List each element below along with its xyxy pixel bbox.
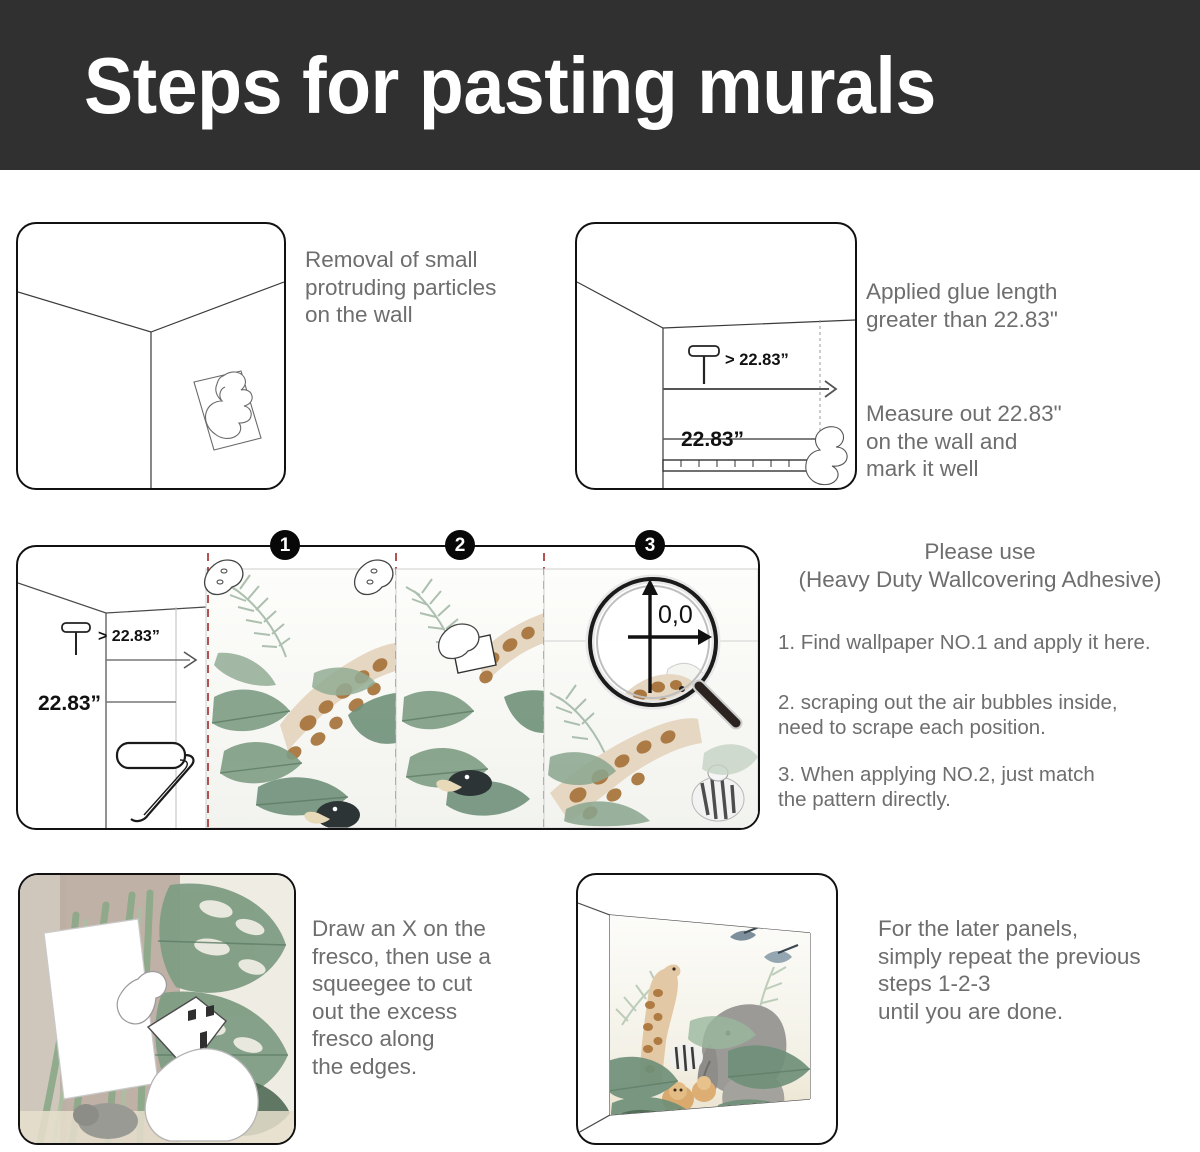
instruction-2: 2. scraping out the air bubbles inside, …	[778, 690, 1198, 740]
caption-glue-length: Applied glue length greater than 22.83"	[866, 278, 1166, 333]
step-badge-2: 2	[445, 530, 475, 560]
caption-measure-mark: Measure out 22.83" on the wall and mark …	[866, 400, 1166, 483]
caption-trim: Draw an X on the fresco, then use a sque…	[312, 915, 562, 1080]
panel-prep-wall	[16, 222, 286, 490]
step-badge-1: 1	[270, 530, 300, 560]
step-badge-3: 3	[635, 530, 665, 560]
page-title: Steps for pasting murals	[84, 38, 936, 134]
panel-trim-excess	[18, 873, 296, 1145]
header-bar: Steps for pasting murals	[0, 0, 1200, 170]
panel-repeat-steps	[576, 873, 838, 1145]
apply-wallpaper-illustration: > 22.83” 22.83”	[18, 547, 758, 828]
origin-label: 0,0	[658, 601, 693, 629]
panel-measure-wall: > 22.83” 22.83”	[575, 222, 857, 490]
panel-apply-wallpaper: > 22.83” 22.83”	[16, 545, 760, 830]
wall-corner-sanding-illustration	[18, 224, 284, 488]
trim-excess-illustration	[20, 875, 294, 1143]
measure-wall-illustration: > 22.83” 22.83”	[577, 224, 855, 488]
caption-adhesive-note: Please use (Heavy Duty Wallcovering Adhe…	[770, 538, 1190, 593]
caption-repeat: For the later panels, simply repeat the …	[878, 915, 1200, 1025]
finished-mural-room-illustration	[578, 875, 836, 1143]
instruction-1: 1. Find wallpaper NO.1 and apply it here…	[778, 630, 1198, 655]
glue-length-label: > 22.83”	[725, 351, 789, 369]
apply-mark-label: 22.83”	[38, 692, 101, 715]
caption-prep: Removal of small protruding particles on…	[305, 246, 575, 329]
measure-mark-label: 22.83”	[681, 428, 744, 451]
apply-glue-length-label: > 22.83”	[98, 628, 160, 645]
instruction-3: 3. When applying NO.2, just match the pa…	[778, 762, 1198, 812]
